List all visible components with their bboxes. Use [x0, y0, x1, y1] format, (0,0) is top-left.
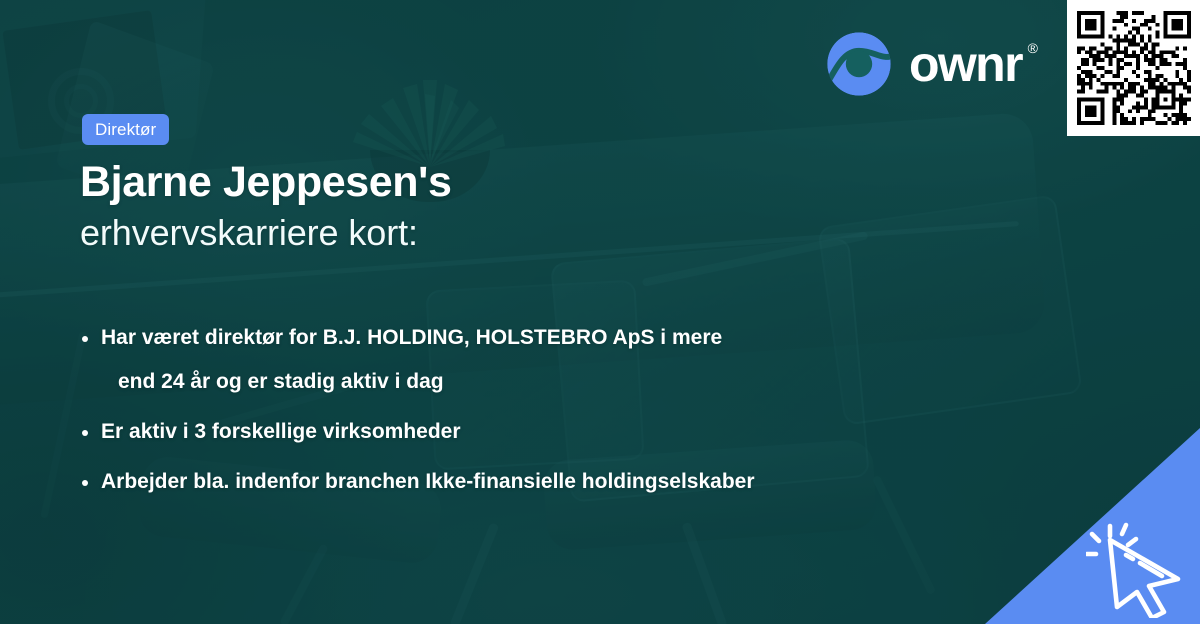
list-item: Er aktiv i 3 forskellige virksomheder — [80, 410, 980, 454]
role-badge: Direktør — [82, 114, 169, 145]
list-item-line2: end 24 år og er stadig aktiv i dag — [101, 360, 980, 404]
bullet-dot-icon — [82, 480, 88, 486]
ownr-logo[interactable]: ownr® — [826, 31, 1038, 97]
qr-code-panel[interactable] — [1067, 0, 1200, 136]
registered-mark: ® — [1028, 41, 1038, 55]
list-item: Arbejder bla. indenfor branchen Ikke-fin… — [80, 460, 980, 504]
list-item-line1: Arbejder bla. indenfor branchen Ikke-fin… — [101, 470, 755, 493]
bullet-dot-icon — [82, 430, 88, 436]
list-item: Har været direktør for B.J. HOLDING, HOL… — [80, 316, 980, 404]
ownr-circle-swirl-icon — [826, 31, 892, 97]
card-content: Direktør Bjarne Jeppesen's erhvervskarri… — [0, 0, 1200, 624]
list-item-line1: Har været direktør for B.J. HOLDING, HOL… — [101, 326, 722, 349]
ownr-wordmark: ownr® — [909, 39, 1038, 89]
role-badge-label: Direktør — [95, 120, 156, 140]
page-subtitle: erhvervskarriere kort: — [80, 212, 418, 254]
page-title: Bjarne Jeppesen's — [80, 158, 452, 207]
qr-code-icon — [1077, 11, 1191, 125]
career-card: Direktør Bjarne Jeppesen's erhvervskarri… — [0, 0, 1200, 624]
list-item-line1: Er aktiv i 3 forskellige virksomheder — [101, 420, 461, 443]
bullet-dot-icon — [82, 336, 88, 342]
click-cursor-icon — [1086, 514, 1192, 618]
career-bullet-list: Har været direktør for B.J. HOLDING, HOL… — [80, 316, 980, 510]
ownr-wordmark-text: ownr — [909, 36, 1022, 92]
